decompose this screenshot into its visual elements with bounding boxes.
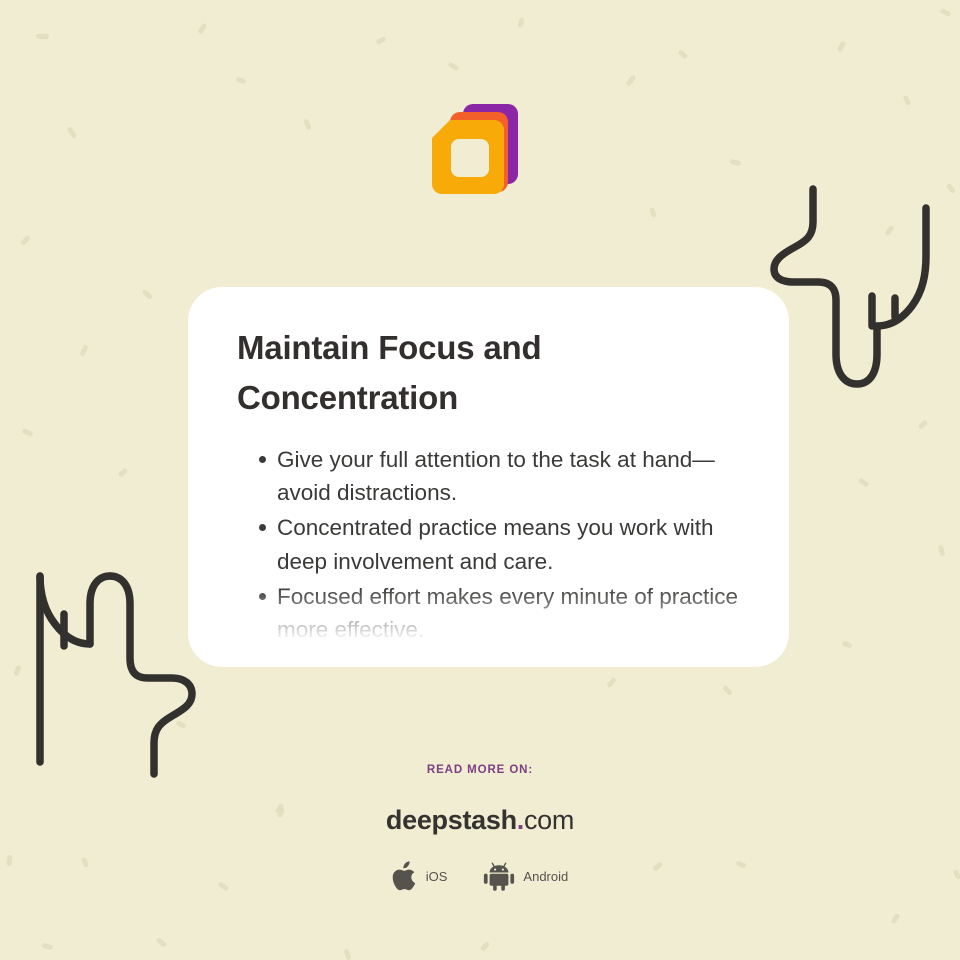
background-speck xyxy=(606,677,617,689)
background-speck xyxy=(841,640,852,648)
read-more-label: READ MORE ON: xyxy=(0,764,960,776)
footer: READ MORE ON: deepstash.com iOS xyxy=(0,764,960,891)
background-speck xyxy=(837,40,847,52)
brand-name: deepstash xyxy=(386,805,517,835)
background-speck xyxy=(678,49,689,59)
page-title: Maintain Focus and Concentration xyxy=(237,323,597,423)
background-speck xyxy=(946,183,956,194)
background-speck xyxy=(375,36,386,45)
background-speck xyxy=(13,664,21,676)
background-speck xyxy=(918,419,929,430)
pointing-hand-right-icon xyxy=(762,178,942,396)
store-label-ios: iOS xyxy=(426,869,448,884)
background-speck xyxy=(625,74,636,87)
background-speck xyxy=(517,17,524,28)
background-speck xyxy=(42,943,54,951)
list-item: Give your full attention to the task at … xyxy=(259,443,747,509)
background-speck xyxy=(858,477,870,487)
background-speck xyxy=(67,126,78,139)
list-item: Focused effort makes every minute of pra… xyxy=(259,580,747,646)
background-speck xyxy=(938,545,946,557)
idea-bullet-list: Give your full attention to the task at … xyxy=(237,443,747,645)
list-item: Concentrated practice means you work wit… xyxy=(259,511,747,577)
background-speck xyxy=(36,34,49,39)
background-speck xyxy=(235,77,246,85)
background-speck xyxy=(480,941,490,952)
background-speck xyxy=(20,235,31,247)
background-speck xyxy=(884,225,895,237)
pointing-hand-left-icon xyxy=(26,566,202,782)
background-speck xyxy=(142,289,153,300)
idea-card-content: Maintain Focus and Concentration Give yo… xyxy=(188,287,789,667)
background-speck xyxy=(343,948,351,960)
android-icon xyxy=(483,861,515,891)
store-badge-android[interactable]: Android xyxy=(483,861,568,891)
background-speck xyxy=(939,8,951,17)
brand-tld: com xyxy=(524,805,574,835)
background-speck xyxy=(156,937,168,948)
poster-canvas: Maintain Focus and Concentration Give yo… xyxy=(0,0,960,960)
brand-dot: . xyxy=(517,805,524,835)
brand-wordmark[interactable]: deepstash.com xyxy=(0,805,960,836)
background-speck xyxy=(730,159,742,167)
background-speck xyxy=(447,62,459,72)
app-store-badges: iOS And xyxy=(0,861,960,891)
background-speck xyxy=(722,685,733,697)
background-speck xyxy=(79,344,88,357)
background-speck xyxy=(21,428,33,437)
apple-icon xyxy=(392,861,418,891)
idea-card: Maintain Focus and Concentration Give yo… xyxy=(188,287,789,667)
background-speck xyxy=(175,720,186,729)
background-speck xyxy=(303,118,312,130)
store-label-android: Android xyxy=(523,869,568,884)
store-badge-ios[interactable]: iOS xyxy=(392,861,448,891)
background-speck xyxy=(649,207,657,218)
deepstash-logo xyxy=(428,104,520,198)
logo-inner-square xyxy=(451,139,489,177)
background-speck xyxy=(118,467,129,477)
background-speck xyxy=(902,95,911,106)
background-speck xyxy=(890,913,900,925)
background-speck xyxy=(197,23,207,35)
